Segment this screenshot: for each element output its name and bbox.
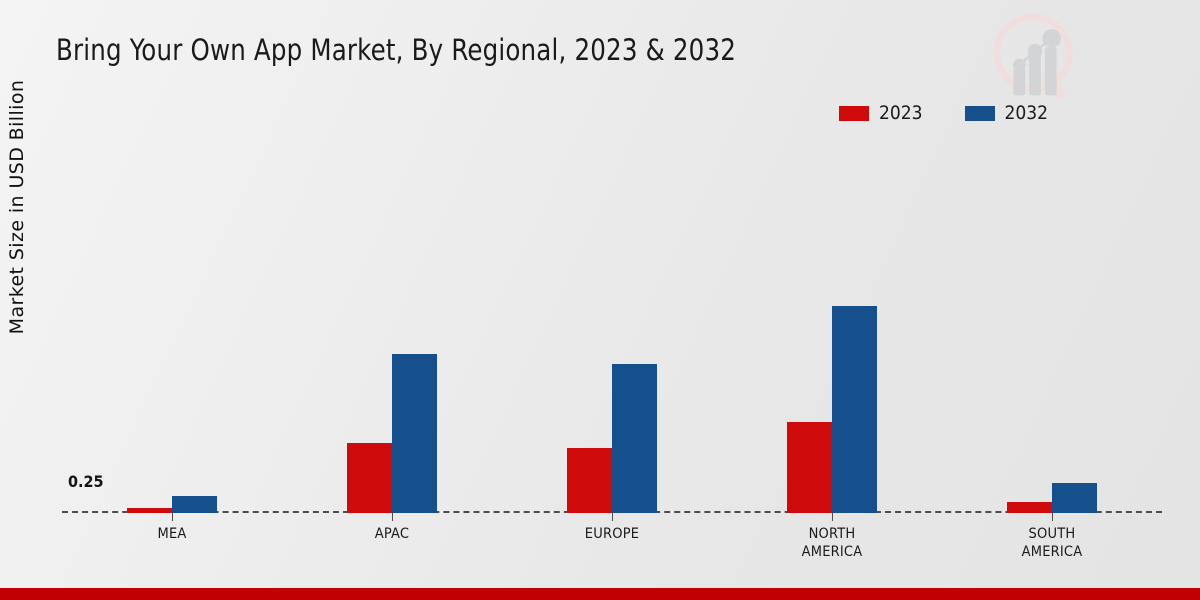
bar-pair	[1007, 140, 1097, 513]
bar-2023[interactable]	[127, 508, 172, 513]
x-axis-tick	[1052, 513, 1053, 521]
bar-pair	[347, 140, 437, 513]
bar-group: 0.25MEA	[62, 140, 282, 513]
x-axis-tick	[392, 513, 393, 521]
plot-area: 0.25MEAAPACEUROPENORTHAMERICASOUTHAMERIC…	[62, 140, 1162, 513]
bar-group: APAC	[282, 140, 502, 513]
bar-2032[interactable]	[612, 364, 657, 513]
bar-2032[interactable]	[1052, 483, 1097, 513]
x-axis-category-label: EUROPE	[502, 525, 722, 543]
bar-group: EUROPE	[502, 140, 722, 513]
bar-group: SOUTHAMERICA	[942, 140, 1162, 513]
bar-pair	[567, 140, 657, 513]
x-axis-tick	[612, 513, 613, 521]
x-axis-category-label: NORTHAMERICA	[722, 525, 942, 561]
bar-2023[interactable]	[567, 448, 612, 513]
bar-value-label: 0.25	[68, 472, 104, 491]
x-axis-category-label: MEA	[62, 525, 282, 543]
bar-group: NORTHAMERICA	[722, 140, 942, 513]
legend-swatch-2023	[839, 106, 869, 121]
bar-2023[interactable]	[1007, 502, 1052, 513]
bar-2023[interactable]	[787, 422, 832, 513]
bar-2032[interactable]	[172, 496, 217, 513]
footer-accent-bar	[0, 588, 1200, 600]
bar-groups: 0.25MEAAPACEUROPENORTHAMERICASOUTHAMERIC…	[62, 140, 1162, 513]
magnifier-bar-chart-logo-icon	[988, 8, 1086, 106]
bar-pair	[787, 140, 877, 513]
x-axis-tick	[832, 513, 833, 521]
chart-title: Bring Your Own App Market, By Regional, …	[56, 33, 736, 67]
x-axis-category-label: SOUTHAMERICA	[942, 525, 1162, 561]
legend-item-2023[interactable]: 2023	[839, 104, 923, 123]
x-axis-category-label: APAC	[282, 525, 502, 543]
chart-legend: 2023 2032	[839, 104, 1048, 123]
legend-swatch-2032	[965, 106, 995, 121]
chart-figure: Bring Your Own App Market, By Regional, …	[0, 0, 1200, 600]
bar-2032[interactable]	[832, 306, 877, 513]
legend-label-2032: 2032	[1005, 104, 1049, 123]
y-axis-title: Market Size in USD Billion	[6, 42, 28, 372]
bar-2023[interactable]	[347, 443, 392, 513]
legend-label-2023: 2023	[879, 104, 923, 123]
legend-item-2032[interactable]: 2032	[965, 104, 1049, 123]
x-axis-tick	[172, 513, 173, 521]
bar-pair	[127, 140, 217, 513]
bar-2032[interactable]	[392, 354, 437, 513]
